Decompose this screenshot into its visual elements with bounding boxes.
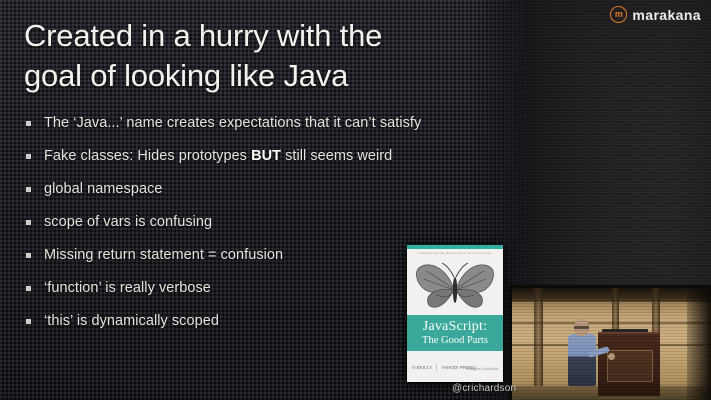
marakana-logo: m marakana <box>610 6 701 23</box>
bullet-text-pre: global namespace <box>44 181 163 197</box>
book-title-line-1: JavaScript: <box>423 319 487 334</box>
bullet-square-icon <box>26 154 31 159</box>
publisher-divider <box>436 364 437 371</box>
bullet-text-pre: scope of vars is confusing <box>44 214 212 230</box>
book-title-band: JavaScript: The Good Parts <box>407 315 503 351</box>
slide-title: Created in a hurry with the goal of look… <box>24 16 494 96</box>
bullet-text-pre: ‘function’ is really verbose <box>44 280 211 296</box>
bullet-square-icon <box>26 220 31 225</box>
speaker-hand <box>608 353 615 360</box>
podium <box>598 332 660 396</box>
oreilly-logo: O’REILLY <box>412 365 432 370</box>
list-item: global namespace <box>24 178 524 201</box>
book-title-line-2: The Good Parts <box>422 334 488 347</box>
presentation-slide-screenshot: m marakana Created in a hurry with the g… <box>0 0 711 400</box>
list-item: Fake classes: Hides prototypes BUT still… <box>24 145 524 168</box>
butterfly-illustration <box>412 259 498 315</box>
bullet-text-pre: The ‘Java...’ name creates expectations … <box>44 115 421 131</box>
slide-title-line-2: goal of looking like Java <box>24 56 494 96</box>
speaker-glasses <box>574 326 589 329</box>
speaker-torso <box>568 334 596 386</box>
bullet-text-bold: BUT <box>251 148 281 164</box>
slide-title-line-1: Created in a hurry with the <box>24 16 494 56</box>
book-tagline: Unearthing the Excellence in JavaScript <box>407 251 503 255</box>
video-right-shadow <box>687 288 711 400</box>
bullet-square-icon <box>26 253 31 258</box>
bullet-square-icon <box>26 187 31 192</box>
list-item: The ‘Java...’ name creates expectations … <box>24 112 524 135</box>
speaker-twitter-handle: @crichardson <box>452 383 516 394</box>
book-author: Douglas Crockford <box>467 366 498 371</box>
bullet-text-pre: Fake classes: Hides prototypes <box>44 148 251 164</box>
javascript-good-parts-book-cover: Unearthing the Excellence in JavaScript <box>407 245 503 382</box>
list-item: scope of vars is confusing <box>24 211 524 234</box>
marakana-wordmark: marakana <box>632 7 701 23</box>
bullet-square-icon <box>26 121 31 126</box>
bullet-text-pre: Missing return statement = confusion <box>44 247 283 263</box>
bullet-text-post: still seems weird <box>281 148 392 164</box>
bullet-square-icon <box>26 286 31 291</box>
bullet-text-pre: ‘this’ is dynamically scoped <box>44 313 219 329</box>
book-top-rule <box>407 245 503 249</box>
wall-pillar <box>534 288 543 400</box>
bullet-square-icon <box>26 319 31 324</box>
marakana-m-icon: m <box>610 6 627 23</box>
conference-talk-video-inset[interactable] <box>509 285 711 400</box>
